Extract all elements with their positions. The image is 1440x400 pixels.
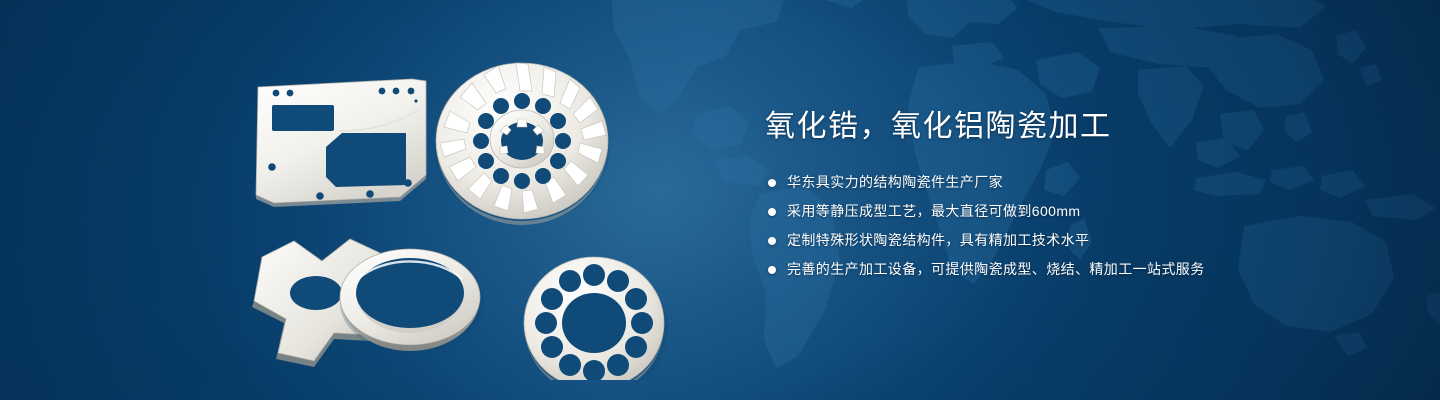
bullet-dot-icon bbox=[768, 179, 776, 187]
feature-text: 华东具实力的结构陶瓷件生产厂家 bbox=[787, 172, 1003, 193]
list-item: 定制特殊形状陶瓷结构件，具有精加工技术水平 bbox=[768, 230, 1325, 251]
banner-copy: 氧化锆，氧化铝陶瓷加工 华东具实力的结构陶瓷件生产厂家 采用等静压成型工艺，最大… bbox=[765, 108, 1325, 288]
promo-banner: 氧化锆，氧化铝陶瓷加工 华东具实力的结构陶瓷件生产厂家 采用等静压成型工艺，最大… bbox=[0, 0, 1440, 400]
list-item: 华东具实力的结构陶瓷件生产厂家 bbox=[768, 172, 1325, 193]
feature-list: 华东具实力的结构陶瓷件生产厂家 采用等静压成型工艺，最大直径可做到600mm 定… bbox=[768, 172, 1325, 280]
bullet-dot-icon bbox=[768, 237, 776, 245]
ceramic-plate-part bbox=[256, 79, 426, 207]
feature-text: 完善的生产加工设备，可提供陶瓷成型、烧结、精加工一站式服务 bbox=[787, 259, 1205, 280]
bullet-dot-icon bbox=[768, 266, 776, 274]
feature-text: 定制特殊形状陶瓷结构件，具有精加工技术水平 bbox=[787, 230, 1089, 251]
bullet-dot-icon bbox=[768, 208, 776, 216]
feature-text: 采用等静压成型工艺，最大直径可做到600mm bbox=[787, 201, 1080, 222]
page-title: 氧化锆，氧化铝陶瓷加工 bbox=[765, 108, 1325, 146]
list-item: 完善的生产加工设备，可提供陶瓷成型、烧结、精加工一站式服务 bbox=[768, 259, 1325, 280]
ceramic-ring-part bbox=[340, 249, 484, 353]
ceramic-impeller-part bbox=[434, 63, 610, 225]
product-photo-cluster bbox=[230, 35, 710, 380]
list-item: 采用等静压成型工艺，最大直径可做到600mm bbox=[768, 201, 1325, 222]
ceramic-hole-disc-part bbox=[524, 257, 668, 380]
